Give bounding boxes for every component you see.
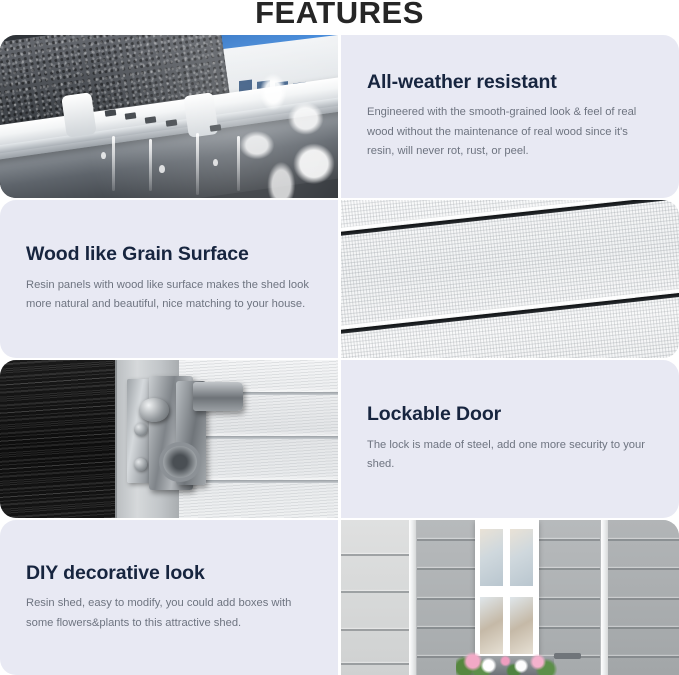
feature-card-lockable-door: Lockable Door The lock is made of steel,… bbox=[341, 360, 679, 518]
siding-line bbox=[341, 663, 409, 665]
door-frame-edge bbox=[115, 360, 117, 518]
feature-body: Engineered with the smooth-grained look … bbox=[367, 103, 653, 162]
corner-post bbox=[601, 520, 608, 675]
feature-row-4: DIY decorative look Resin shed, easy to … bbox=[0, 520, 679, 675]
siding-line bbox=[341, 554, 409, 556]
siding-line bbox=[608, 627, 679, 629]
feature-image-lockable-door bbox=[0, 360, 338, 518]
feature-card-all-weather-resistant: All-weather resistant Engineered with th… bbox=[341, 35, 679, 198]
latch-handle bbox=[193, 382, 244, 410]
siding-line bbox=[608, 539, 679, 541]
lock-hasp-ring bbox=[159, 442, 201, 482]
feature-card-diy-decorative-look: DIY decorative look Resin shed, easy to … bbox=[0, 520, 338, 675]
feature-row-2: Wood like Grain Surface Resin panels wit… bbox=[0, 200, 679, 358]
latch-bolt bbox=[134, 423, 147, 436]
window-pane bbox=[510, 597, 533, 654]
dark-door-panel bbox=[0, 360, 115, 518]
flowers bbox=[456, 650, 561, 675]
feature-card-wood-like-grain-surface: Wood like Grain Surface Resin panels wit… bbox=[0, 200, 338, 358]
feature-heading: Lockable Door bbox=[367, 403, 661, 425]
page-title-bar: FEATURES bbox=[0, 0, 679, 32]
feature-image-diy-decorative-look bbox=[341, 520, 679, 675]
window-pane bbox=[480, 597, 503, 654]
feature-body: Resin panels with wood like surface make… bbox=[26, 276, 312, 315]
siding-line bbox=[608, 656, 679, 658]
siding-line bbox=[341, 629, 409, 631]
feature-row-1: All-weather resistant Engineered with th… bbox=[0, 35, 679, 198]
siding-line bbox=[608, 598, 679, 600]
page-title: FEATURES bbox=[255, 0, 424, 31]
shed-window bbox=[475, 520, 539, 663]
features-page: FEATURES bbox=[0, 0, 679, 675]
feature-body: The lock is made of steel, add one more … bbox=[367, 436, 661, 475]
feature-heading: Wood like Grain Surface bbox=[26, 243, 312, 265]
features-grid: All-weather resistant Engineered with th… bbox=[0, 35, 679, 675]
feature-heading: All-weather resistant bbox=[367, 71, 653, 93]
feature-body: Resin shed, easy to modify, you could ad… bbox=[26, 594, 312, 633]
water-mist bbox=[0, 35, 338, 198]
feature-image-all-weather-resistant bbox=[0, 35, 338, 198]
feature-heading: DIY decorative look bbox=[26, 562, 312, 584]
siding-line bbox=[341, 591, 409, 593]
window-pane bbox=[480, 529, 503, 586]
window-pane bbox=[510, 529, 533, 586]
latch-knob bbox=[139, 398, 169, 422]
feature-row-3: Lockable Door The lock is made of steel,… bbox=[0, 360, 679, 518]
corner-post bbox=[409, 520, 416, 675]
shed-wall-left bbox=[341, 520, 409, 675]
latch-bolt bbox=[134, 458, 147, 471]
siding-line bbox=[608, 568, 679, 570]
feature-image-wood-like-grain-surface bbox=[341, 200, 679, 358]
